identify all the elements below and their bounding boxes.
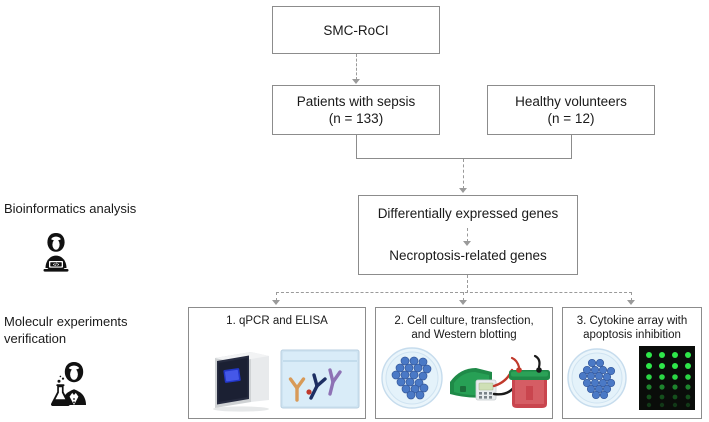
svg-text:</>: </>: [53, 262, 60, 267]
petri-dish-cells-icon: [382, 348, 442, 408]
power-supply-icon: [450, 368, 496, 400]
panel-3-title: 3. Cytokine array with apoptosis inhibit…: [563, 308, 701, 342]
flowchart-canvas: SMC-RoCI Patients with sepsis (n = 133) …: [0, 0, 709, 422]
connector-branch-panel-1-arrow: [272, 300, 280, 305]
cytokine-array-icon: [639, 346, 695, 410]
elisa-well-antibodies-icon: [281, 350, 359, 408]
connector-branch-panel-2-arrow: [459, 300, 467, 305]
connector-healthy-down: [571, 135, 572, 159]
panel-1-art: [189, 342, 365, 414]
node-sepsis-line1: Patients with sepsis: [297, 93, 416, 110]
node-dge-label: Differentially expressed genes: [378, 205, 559, 222]
connector-merge-to-genes: [463, 159, 464, 189]
connector-smc-to-sepsis: [356, 54, 357, 80]
node-sepsis-line2: (n = 133): [329, 110, 383, 127]
connector-panels-bar: [276, 292, 632, 293]
node-sepsis-cohort: Patients with sepsis (n = 133): [272, 85, 440, 135]
panel-1-title: 1. qPCR and ELISA: [189, 308, 365, 328]
electrophoresis-tank-icon: [509, 356, 550, 408]
connector-sepsis-down: [356, 135, 357, 159]
connector-genes-down: [467, 275, 468, 293]
connector-branch-panel-3-arrow: [627, 300, 635, 305]
node-healthy-line2: (n = 12): [548, 110, 595, 127]
panel-3-art: [563, 342, 701, 414]
scientist-flask-icon: [44, 358, 96, 410]
person-laptop-code-icon: </>: [32, 228, 80, 276]
node-gene-analysis: Differentially expressed genes Necroptos…: [358, 195, 578, 275]
node-cohort-source: SMC-RoCI: [272, 6, 440, 54]
node-necroptosis-label: Necroptosis-related genes: [389, 247, 547, 264]
section-label-bioinformatics: Bioinformatics analysis: [4, 200, 179, 217]
panel-cytokine-array: 3. Cytokine array with apoptosis inhibit…: [562, 307, 702, 419]
connector-dge-to-necroptosis: [467, 228, 468, 242]
connector-dge-to-necroptosis-arrow: [463, 241, 471, 246]
panel-2-title: 2. Cell culture, transfection, and Weste…: [376, 308, 552, 342]
panel-cell-culture-western-blot: 2. Cell culture, transfection, and Weste…: [375, 307, 553, 419]
panel-qpcr-elisa: 1. qPCR and ELISA: [188, 307, 366, 419]
connector-smc-to-sepsis-arrow: [352, 79, 360, 84]
node-healthy-line1: Healthy volunteers: [515, 93, 627, 110]
panel-2-art: [376, 342, 552, 414]
section-label-molecular: Moleculr experiments verification: [4, 313, 179, 347]
petri-dish-cells-icon: [568, 349, 626, 407]
connector-merge-bar: [356, 158, 572, 159]
qpcr-machine-icon: [213, 352, 269, 412]
node-healthy-cohort: Healthy volunteers (n = 12): [487, 85, 655, 135]
node-cohort-source-label: SMC-RoCI: [323, 22, 388, 39]
connector-merge-to-genes-arrow: [459, 188, 467, 193]
